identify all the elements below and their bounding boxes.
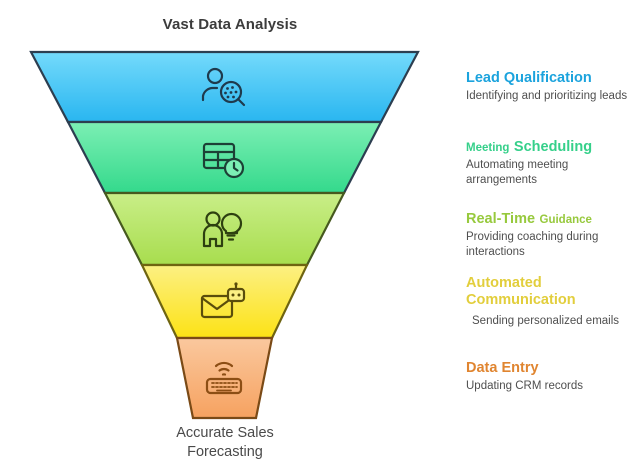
legend-heading-3: Real-Time Guidance — [466, 210, 632, 228]
legend-heading-5-primary: Data Entry — [466, 360, 539, 376]
legend-heading-4-primary: Automated — [466, 275, 542, 291]
legend-heading-2-primary: Scheduling — [514, 139, 592, 155]
funnel-band-5[interactable] — [177, 338, 272, 418]
legend-heading-2: Meeting Scheduling — [466, 138, 632, 156]
legend-desc-2: Automating meeting arrangements — [466, 158, 632, 188]
legend-heading-4-secondary: Communication — [466, 292, 576, 308]
legend-desc-3: Providing coaching during interactions — [466, 230, 632, 260]
legend-item-3[interactable]: Real-Time Guidance Providing coaching du… — [466, 210, 632, 261]
funnel-band-3[interactable] — [105, 193, 344, 265]
legend-item-5[interactable]: Data Entry Updating CRM records — [466, 360, 632, 394]
legend-desc-5: Updating CRM records — [466, 379, 632, 394]
funnel-caption: Accurate Sales Forecasting — [95, 424, 355, 461]
funnel-band-4[interactable] — [142, 265, 307, 338]
caption-line-1: Accurate Sales — [95, 424, 355, 443]
funnel-shape — [0, 0, 460, 463]
legend-heading-3-secondary: Guidance — [540, 214, 592, 226]
legend-heading-5: Data Entry — [466, 360, 632, 377]
legend-heading-2-secondary: Meeting — [466, 142, 509, 154]
legend-desc-4: Sending personalized emails — [472, 314, 632, 329]
legend-heading-1: Lead Qualification — [466, 70, 632, 87]
legend-desc-1: Identifying and prioritizing leads — [466, 89, 632, 104]
funnel-diagram: Vast Data Analysis — [0, 0, 632, 463]
legend-item-1[interactable]: Lead Qualification Identifying and prior… — [466, 70, 632, 104]
legend-heading-3-primary: Real-Time — [466, 211, 535, 227]
legend-heading-4: Automated Communication — [466, 275, 632, 308]
legend-item-4[interactable]: Automated Communication Sending personal… — [466, 275, 632, 329]
legend-item-2[interactable]: Meeting Scheduling Automating meeting ar… — [466, 138, 632, 189]
funnel-band-1[interactable] — [31, 52, 418, 122]
funnel-band-2[interactable] — [68, 122, 381, 193]
legend-heading-1-primary: Lead Qualification — [466, 70, 592, 86]
caption-line-2: Forecasting — [95, 443, 355, 462]
